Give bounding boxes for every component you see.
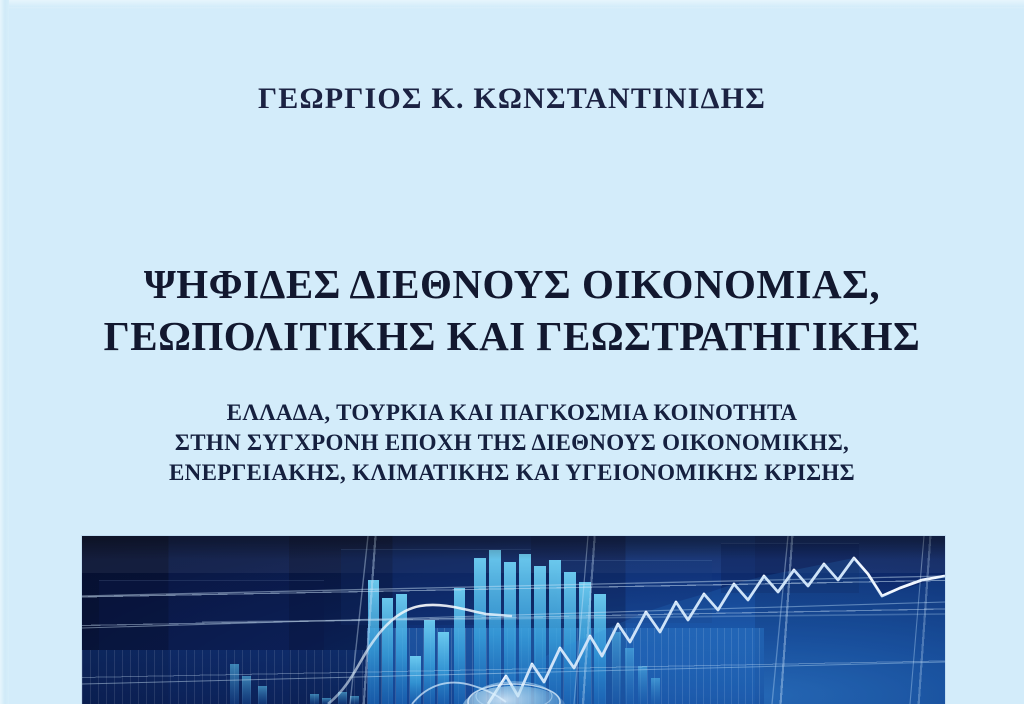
book-subtitle: ΕΛΛΑΔΑ, ΤΟΥΡΚΙΑ ΚΑΙ ΠΑΓΚΟΣΜΙΑ ΚΟΙΝΟΤΗΤΑ … <box>0 398 1024 488</box>
subtitle-line-2: ΣΤΗΝ ΣΥΓΧΡΟΝΗ ΕΠΟΧΗ ΤΗΣ ΔΙΕΘΝΟΥΣ ΟΙΚΟΝΟΜ… <box>0 428 1024 458</box>
cover-artwork <box>82 536 945 704</box>
subtitle-line-3: ΕΝΕΡΓΕΙΑΚΗΣ, ΚΛΙΜΑΤΙΚΗΣ ΚΑΙ ΥΓΕΙΟΝΟΜΙΚΗΣ… <box>0 458 1024 488</box>
book-title: ΨΗΦΙΔΕΣ ΔΙΕΘΝΟΥΣ ΟΙΚΟΝΟΜΙΑΣ, ΓΕΩΠΟΛΙΤΙΚΗ… <box>0 258 1024 362</box>
subtitle-line-1: ΕΛΛΑΔΑ, ΤΟΥΡΚΙΑ ΚΑΙ ΠΑΓΚΟΣΜΙΑ ΚΟΙΝΟΤΗΤΑ <box>0 398 1024 428</box>
author-name: ΓΕΩΡΓΙΟΣ Κ. ΚΩΝΣΤΑΝΤΙΝΙΔΗΣ <box>0 82 1024 116</box>
artwork-vignette <box>82 536 945 704</box>
title-line-1: ΨΗΦΙΔΕΣ ΔΙΕΘΝΟΥΣ ΟΙΚΟΝΟΜΙΑΣ, <box>0 258 1024 310</box>
book-cover: ΓΕΩΡΓΙΟΣ Κ. ΚΩΝΣΤΑΝΤΙΝΙΔΗΣ ΨΗΦΙΔΕΣ ΔΙΕΘΝ… <box>0 0 1024 704</box>
title-line-2: ΓΕΩΠΟΛΙΤΙΚΗΣ ΚΑΙ ΓΕΩΣΤΡΑΤΗΓΙΚΗΣ <box>0 310 1024 362</box>
